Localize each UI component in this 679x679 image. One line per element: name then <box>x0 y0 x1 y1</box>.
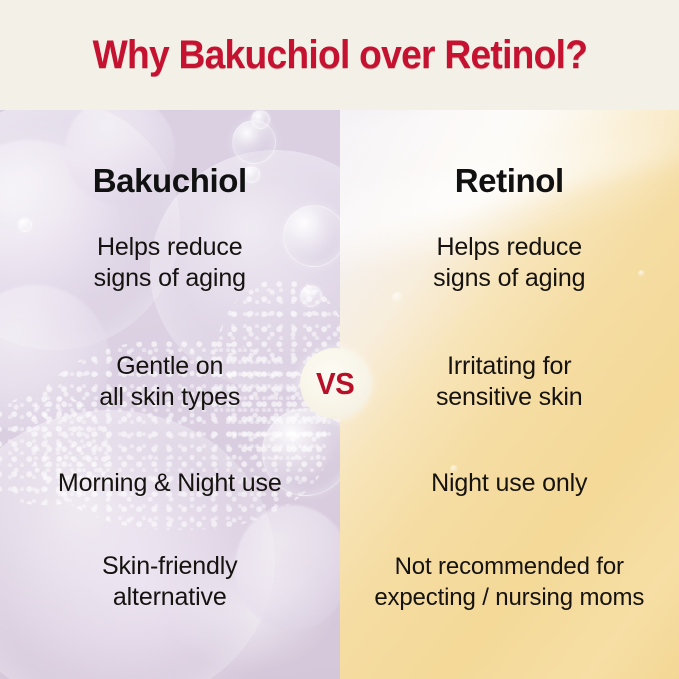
retinol-row-4: Not recommended for expecting / nursing … <box>340 551 679 613</box>
versus-label: VS <box>316 366 354 402</box>
versus-badge: VS <box>300 348 371 419</box>
bakuchiol-row-1-line-2: signs of aging <box>0 263 340 294</box>
bakuchiol-row-1: Helps reduce signs of aging <box>0 232 340 294</box>
retinol-row-2: Irritating for sensitive skin <box>340 351 679 413</box>
header-band: Why Bakuchiol over Retinol? <box>0 0 679 110</box>
bakuchiol-row-3-line-1: Morning & Night use <box>0 468 340 499</box>
bakuchiol-row-4-line-1: Skin-friendly <box>0 551 340 582</box>
retinol-row-3: Night use only <box>340 468 679 499</box>
retinol-row-4-line-1: Not recommended for <box>340 551 679 582</box>
bakuchiol-row-1-line-1: Helps reduce <box>0 232 340 263</box>
page-title: Why Bakuchiol over Retinol? <box>92 33 587 78</box>
retinol-row-1: Helps reduce signs of aging <box>340 232 679 294</box>
bakuchiol-column: Bakuchiol Helps reduce signs of aging Ge… <box>0 110 340 679</box>
retinol-column: Retinol Helps reduce signs of aging Irri… <box>340 110 679 679</box>
bakuchiol-row-4: Skin-friendly alternative <box>0 551 340 613</box>
infographic-root: Why Bakuchiol over Retinol? <box>0 0 679 679</box>
retinol-row-4-line-2: expecting / nursing moms <box>340 582 679 613</box>
bakuchiol-row-2-line-1: Gentle on <box>0 351 340 382</box>
bakuchiol-row-2: Gentle on all skin types <box>0 351 340 413</box>
bakuchiol-row-2-line-2: all skin types <box>0 382 340 413</box>
retinol-row-2-line-1: Irritating for <box>340 351 679 382</box>
retinol-heading: Retinol <box>340 162 679 200</box>
retinol-row-1-line-1: Helps reduce <box>340 232 679 263</box>
bakuchiol-row-3: Morning & Night use <box>0 468 340 499</box>
bakuchiol-heading: Bakuchiol <box>0 162 340 200</box>
bakuchiol-row-4-line-2: alternative <box>0 582 340 613</box>
retinol-row-3-line-1: Night use only <box>340 468 679 499</box>
retinol-row-2-line-2: sensitive skin <box>340 382 679 413</box>
retinol-row-1-line-2: signs of aging <box>340 263 679 294</box>
